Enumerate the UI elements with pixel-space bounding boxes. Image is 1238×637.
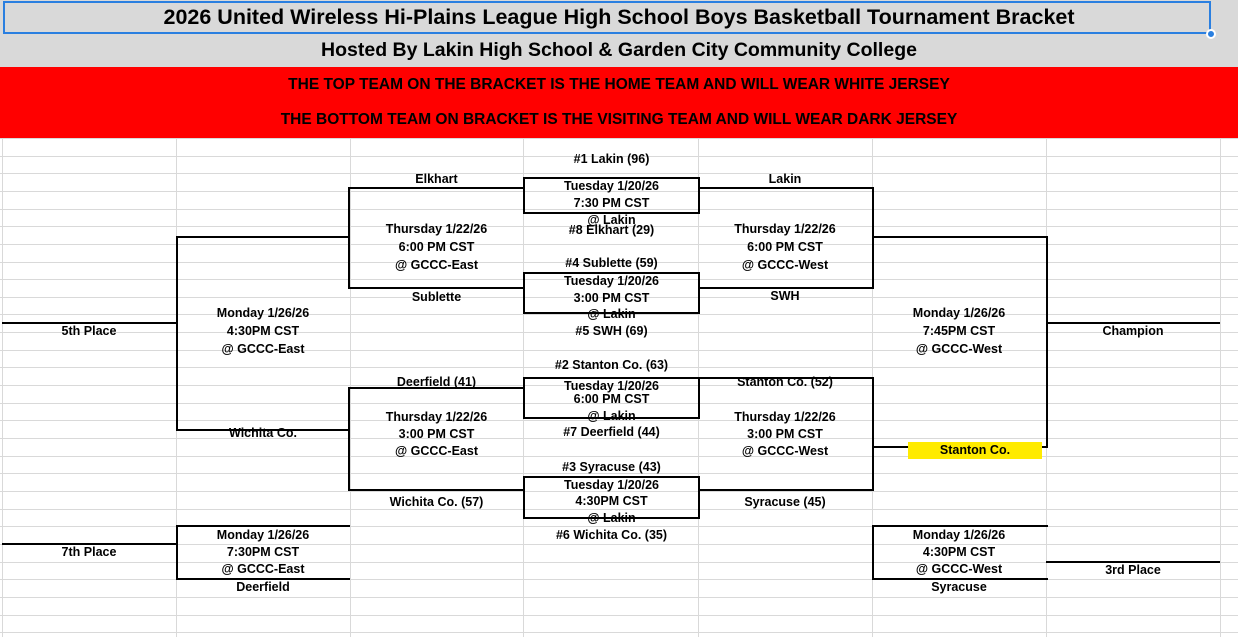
r1-g3-time[interactable]: 6:00 PM CST	[523, 391, 700, 408]
consol-lower-time[interactable]: 3:00 PM CST	[348, 426, 525, 443]
semi-upper-time[interactable]: 6:00 PM CST	[698, 239, 872, 256]
r1-g4-site[interactable]: @ Lakin	[523, 510, 700, 527]
semi-lower-bottom-team[interactable]: Syracuse (45)	[698, 494, 872, 511]
final-right	[1046, 236, 1048, 448]
final-date[interactable]: Monday 1/26/26	[872, 305, 1046, 322]
seventh-time[interactable]: 7:30PM CST	[176, 544, 350, 561]
r1-g1-bottom-seed[interactable]: #8 Elkhart (29)	[523, 222, 700, 239]
r1-g4-time[interactable]: 4:30PM CST	[523, 493, 700, 510]
r1-g3-bottom-seed[interactable]: #7 Deerfield (44)	[523, 424, 700, 441]
champion-winner[interactable]: Stanton Co.	[908, 442, 1042, 459]
third-entrant[interactable]: Syracuse	[872, 579, 1046, 596]
r1-g1-top-seed[interactable]: #1 Lakin (96)	[523, 151, 700, 168]
r1-g3-site[interactable]: @ Lakin	[523, 408, 700, 425]
semi-upper-top-team[interactable]: Lakin	[698, 171, 872, 188]
r1-g1-time[interactable]: 7:30 PM CST	[523, 195, 700, 212]
gridline-row	[0, 138, 1238, 139]
spreadsheet-bracket-sheet: 2026 United Wireless Hi-Plains League Hi…	[0, 0, 1238, 637]
fill-handle[interactable]	[1206, 29, 1216, 39]
gridline-row	[0, 456, 1238, 457]
seventh-date[interactable]: Monday 1/26/26	[176, 527, 350, 544]
r1-g4-top-seed[interactable]: #3 Syracuse (43)	[523, 459, 700, 476]
semi-lower-date[interactable]: Thursday 1/22/26	[698, 409, 872, 426]
consol-upper-top-team[interactable]: Elkhart	[348, 171, 525, 188]
gridline-row	[0, 244, 1238, 245]
third-place-label[interactable]: 3rd Place	[1046, 562, 1220, 579]
r1-g2-site[interactable]: @ Lakin	[523, 306, 700, 323]
gridline-row	[0, 615, 1238, 616]
seventh-site[interactable]: @ GCCC-East	[176, 561, 350, 578]
consol-upper-time[interactable]: 6:00 PM CST	[348, 239, 525, 256]
r1-g2-time[interactable]: 3:00 PM CST	[523, 290, 700, 307]
consol-lower-bottom-team[interactable]: Wichita Co. (57)	[348, 494, 525, 511]
consol-upper-site[interactable]: @ GCCC-East	[348, 257, 525, 274]
gridline-column	[2, 138, 3, 637]
semi-upper-site[interactable]: @ GCCC-West	[698, 257, 872, 274]
r1-g2-top-seed[interactable]: #4 Sublette (59)	[523, 255, 700, 272]
semi-upper-bottom-team[interactable]: SWH	[698, 288, 872, 305]
home-team-notice[interactable]: THE TOP TEAM ON THE BRACKET IS THE HOME …	[0, 67, 1238, 102]
semi-upper-date[interactable]: Thursday 1/22/26	[698, 221, 872, 238]
gridline-column	[1220, 138, 1221, 637]
semi-upper-right	[872, 187, 874, 289]
seventh-entrant[interactable]: Deerfield	[176, 579, 350, 596]
semi-lower-site[interactable]: @ GCCC-West	[698, 443, 872, 460]
r1-g2-bottom-seed[interactable]: #5 SWH (69)	[523, 323, 700, 340]
fifth-top	[176, 236, 350, 238]
gridline-row	[0, 173, 1238, 174]
r1-g1-date[interactable]: Tuesday 1/20/26	[523, 177, 700, 195]
fifth-place-label[interactable]: 5th Place	[2, 323, 176, 340]
r1-g4-date[interactable]: Tuesday 1/20/26	[523, 476, 700, 494]
consol-lower-bottom	[348, 489, 525, 491]
consol-upper-bottom-team[interactable]: Sublette	[348, 289, 525, 306]
gridline-row	[0, 632, 1238, 633]
gridline-row	[0, 597, 1238, 598]
fifth-entrant[interactable]: Wichita Co.	[176, 425, 350, 442]
bracket-subtitle[interactable]: Hosted By Lakin High School & Garden Cit…	[0, 34, 1238, 67]
semi-lower-bottom	[698, 489, 872, 491]
seventh-place-label[interactable]: 7th Place	[2, 544, 176, 561]
fifth-time[interactable]: 4:30PM CST	[176, 323, 350, 340]
fifth-site[interactable]: @ GCCC-East	[176, 341, 350, 358]
fifth-date[interactable]: Monday 1/26/26	[176, 305, 350, 322]
consol-upper-date[interactable]: Thursday 1/22/26	[348, 221, 525, 238]
third-time[interactable]: 4:30PM CST	[872, 544, 1046, 561]
r1-g2-date[interactable]: Tuesday 1/20/26	[523, 272, 700, 290]
third-date[interactable]: Monday 1/26/26	[872, 527, 1046, 544]
r1-g3-top-seed[interactable]: #2 Stanton Co. (63)	[523, 357, 700, 374]
third-site[interactable]: @ GCCC-West	[872, 561, 1046, 578]
consol-lower-site[interactable]: @ GCCC-East	[348, 443, 525, 460]
r1-g4-bottom-seed[interactable]: #6 Wichita Co. (35)	[523, 527, 700, 544]
consol-lower-date[interactable]: Thursday 1/22/26	[348, 409, 525, 426]
visiting-team-notice[interactable]: THE BOTTOM TEAM ON BRACKET IS THE VISITI…	[0, 102, 1238, 138]
semi-lower-right	[872, 377, 874, 491]
consol-lower-top-team[interactable]: Deerfield (41)	[348, 374, 525, 391]
semi-lower-time[interactable]: 3:00 PM CST	[698, 426, 872, 443]
final-site[interactable]: @ GCCC-West	[872, 341, 1046, 358]
bracket-title[interactable]: 2026 United Wireless Hi-Plains League Hi…	[0, 0, 1238, 34]
semi-lower-top-team[interactable]: Stanton Co. (52)	[698, 374, 872, 391]
champion-label[interactable]: Champion	[1046, 323, 1220, 340]
final-top	[872, 236, 1048, 238]
final-time[interactable]: 7:45PM CST	[872, 323, 1046, 340]
